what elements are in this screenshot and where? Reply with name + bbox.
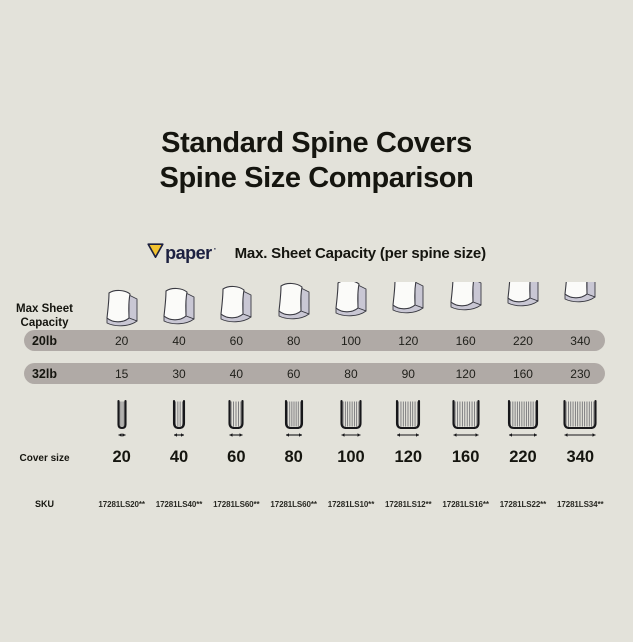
spine-icon-160 [437,396,494,442]
sku-cell: 17281LS12** [380,494,437,512]
cover-value: 120 [395,448,423,466]
spine-size-comparison-page: { "header": { "title_line1": "Standard S… [0,0,633,642]
pill-value: 80 [344,367,357,381]
pill-value: 160 [513,367,533,381]
logo-trademark: · [214,244,217,254]
sku-value: 17281LS40** [156,500,203,509]
paper-stack-icon-120 [380,278,437,330]
paper-stack-cells [93,278,633,330]
capacity-cell-20lb: 220 [494,332,551,350]
capacity-cell-20lb: 60 [208,332,265,350]
weight-label-20lb: 20lb [0,332,93,350]
sku-cell: 17281LS20** [93,494,150,512]
paper-stack-icon-40 [150,278,207,330]
sku-value: 17281LS60** [213,500,260,509]
cover-size-row: Cover size 20406080100120160220340 [0,444,633,470]
capacity-cell-32lb: 40 [208,365,265,383]
paper-stack-icon-220 [494,278,551,330]
title-line-1: Standard Spine Covers [0,126,633,161]
sku-value: 17281LS22** [500,500,547,509]
comparison-table: Max Sheet Capacity 20lb 2040608010012016… [0,278,633,514]
paper-stack-icon-340 [552,278,609,330]
capacity-cell-32lb: 120 [437,365,494,383]
cover-size-cell: 220 [494,448,551,467]
paper-stack-icon-160 [437,278,494,330]
capacity-cell-20lb: 160 [437,332,494,350]
cover-size-cell: 340 [552,448,609,467]
spine-icon-220 [494,396,551,442]
page-title: Standard Spine Covers Spine Size Compari… [0,126,633,196]
cover-value: 40 [170,448,188,466]
capacity-cell-20lb: 100 [322,332,379,350]
title-line-2: Spine Size Comparison [0,161,633,196]
capacity-row-20lb: 20lb 20406080100120160220340 [0,330,633,351]
spine-icon-340 [552,396,609,442]
cover-value: 20 [112,448,130,466]
cover-value: 60 [227,448,245,466]
cover-value: 100 [337,448,365,466]
spine-icon-20 [93,396,150,442]
spine-icon-40 [150,396,207,442]
sku-cell: 17281LS34** [552,494,609,512]
sku-row: SKU 17281LS20**17281LS40**17281LS60**172… [0,492,633,514]
logo-wordmark: paper [165,243,212,264]
max-sheet-capacity-label: Max Sheet Capacity [0,302,93,330]
sku-value: 17281LS16** [442,500,489,509]
subtitle-heading: Max. Sheet Capacity (per spine size) [235,245,486,262]
capacity-row-32lb: 32lb 153040608090120160230 [0,363,633,384]
cover-size-cells: 20406080100120160220340 [93,448,633,467]
paper-stack-row: Max Sheet Capacity [0,278,633,330]
capacity-cells-20lb: 20406080100120160220340 [93,332,633,350]
cover-size-cell: 160 [437,448,494,467]
spine-icon-row [0,396,633,442]
pill-value: 340 [570,334,590,348]
weight-label-32lb: 32lb [0,365,93,383]
sku-cell: 17281LS16** [437,494,494,512]
sku-cell: 17281LS10** [322,494,379,512]
cover-size-cell: 40 [150,448,207,467]
sku-value: 17281LS60** [270,500,317,509]
capacity-cells-32lb: 153040608090120160230 [93,365,633,383]
subtitle-row: paper · Max. Sheet Capacity (per spine s… [0,242,633,264]
sku-cell: 17281LS22** [494,494,551,512]
cover-size-cell: 60 [208,448,265,467]
pill-value: 40 [172,334,185,348]
sku-value: 17281LS12** [385,500,432,509]
sku-cell: 17281LS60** [208,494,265,512]
logo-v-icon [147,242,164,259]
pill-value: 60 [230,334,243,348]
capacity-cell-20lb: 120 [380,332,437,350]
capacity-cell-20lb: 80 [265,332,322,350]
sku-label: SKU [0,494,93,512]
capacity-cell-32lb: 230 [552,365,609,383]
pill-value: 120 [398,334,418,348]
cover-value: 80 [284,448,302,466]
capacity-cell-20lb: 340 [552,332,609,350]
sku-cells: 17281LS20**17281LS40**17281LS60**17281LS… [93,494,633,512]
paper-stack-icon-60 [208,278,265,330]
pill-value: 160 [456,334,476,348]
pill-value: 15 [115,367,128,381]
capacity-cell-20lb: 20 [93,332,150,350]
cover-value: 220 [509,448,537,466]
capacity-cell-20lb: 40 [150,332,207,350]
cover-value: 340 [567,448,595,466]
paper-stack-icon-80 [265,278,322,330]
pill-value: 30 [172,367,185,381]
pill-value: 60 [287,367,300,381]
pill-value: 90 [402,367,415,381]
paper-stack-icon-100 [322,278,379,330]
vpaper-logo: paper · [147,242,217,264]
paper-stack-icon-20 [93,278,150,330]
capacity-cell-32lb: 60 [265,365,322,383]
capacity-cell-32lb: 15 [93,365,150,383]
pill-value: 220 [513,334,533,348]
capacity-cell-32lb: 80 [322,365,379,383]
pill-value: 120 [456,367,476,381]
pill-value: 230 [570,367,590,381]
sku-value: 17281LS34** [557,500,604,509]
cover-value: 160 [452,448,480,466]
pill-value: 40 [230,367,243,381]
sku-value: 17281LS20** [98,500,145,509]
spine-icon-100 [322,396,379,442]
cover-size-cell: 80 [265,448,322,467]
cover-size-cell: 20 [93,448,150,467]
capacity-cell-32lb: 30 [150,365,207,383]
capacity-cell-32lb: 160 [494,365,551,383]
capacity-cell-32lb: 90 [380,365,437,383]
pill-value: 100 [341,334,361,348]
cover-size-label: Cover size [0,448,93,466]
spine-icon-cells [93,396,633,442]
spine-icon-80 [265,396,322,442]
cover-size-cell: 120 [380,448,437,467]
cover-size-cell: 100 [322,448,379,467]
pill-value: 20 [115,334,128,348]
sku-value: 17281LS10** [328,500,375,509]
pill-value: 80 [287,334,300,348]
spine-icon-120 [380,396,437,442]
spine-icon-60 [208,396,265,442]
sku-cell: 17281LS60** [265,494,322,512]
sku-cell: 17281LS40** [150,494,207,512]
